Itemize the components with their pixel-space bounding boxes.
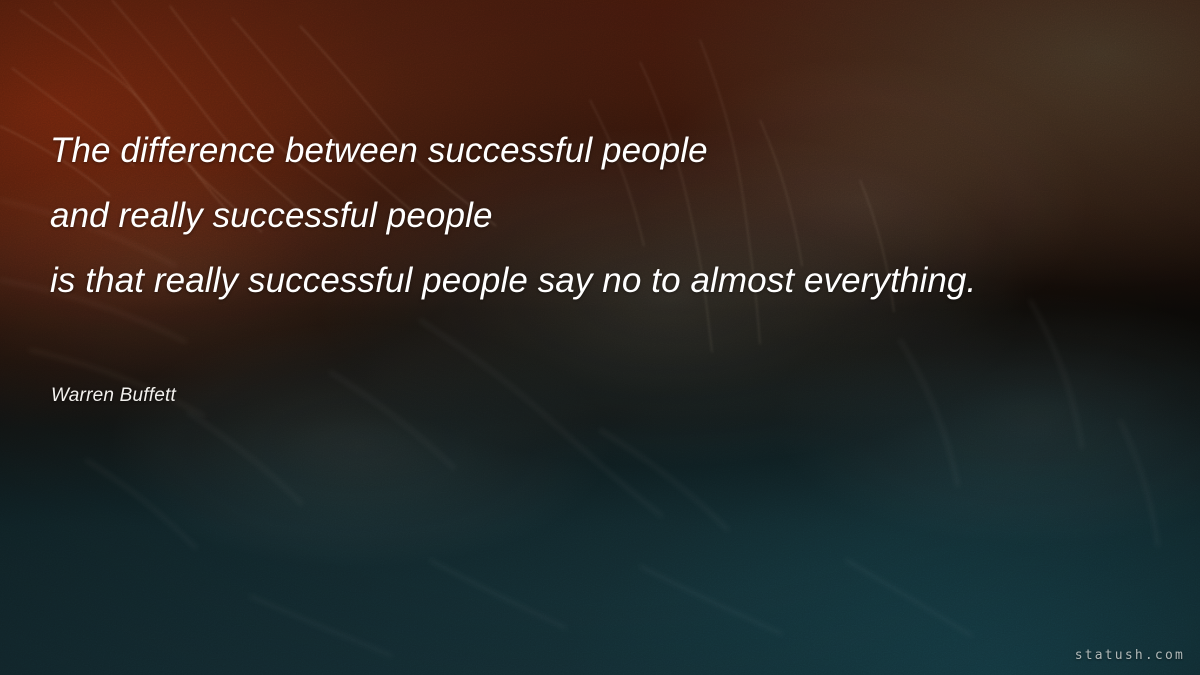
quote-line: and really successful people xyxy=(50,183,1150,248)
background-base-gradient xyxy=(0,0,1200,675)
quote-line: The difference between successful people xyxy=(50,118,1150,183)
background-warm-corner-glow xyxy=(0,0,1200,675)
background-vertical-gradient xyxy=(0,0,1200,675)
quote-text-block: The difference between successful people… xyxy=(50,118,1150,313)
background-smoke-haze xyxy=(0,0,1200,675)
background-olive-glow xyxy=(0,0,1200,675)
background-vignette xyxy=(0,0,1200,675)
background-smoke-wisps xyxy=(0,0,1200,675)
quote-line: is that really successful people say no … xyxy=(50,248,1150,313)
background-grain-noise xyxy=(0,0,1200,675)
quote-author: Warren Buffett xyxy=(51,385,176,407)
watermark-statush: statush.com xyxy=(1075,648,1185,663)
quote-card: The difference between successful people… xyxy=(0,0,1200,675)
background-cool-corner-glow xyxy=(0,0,1200,675)
